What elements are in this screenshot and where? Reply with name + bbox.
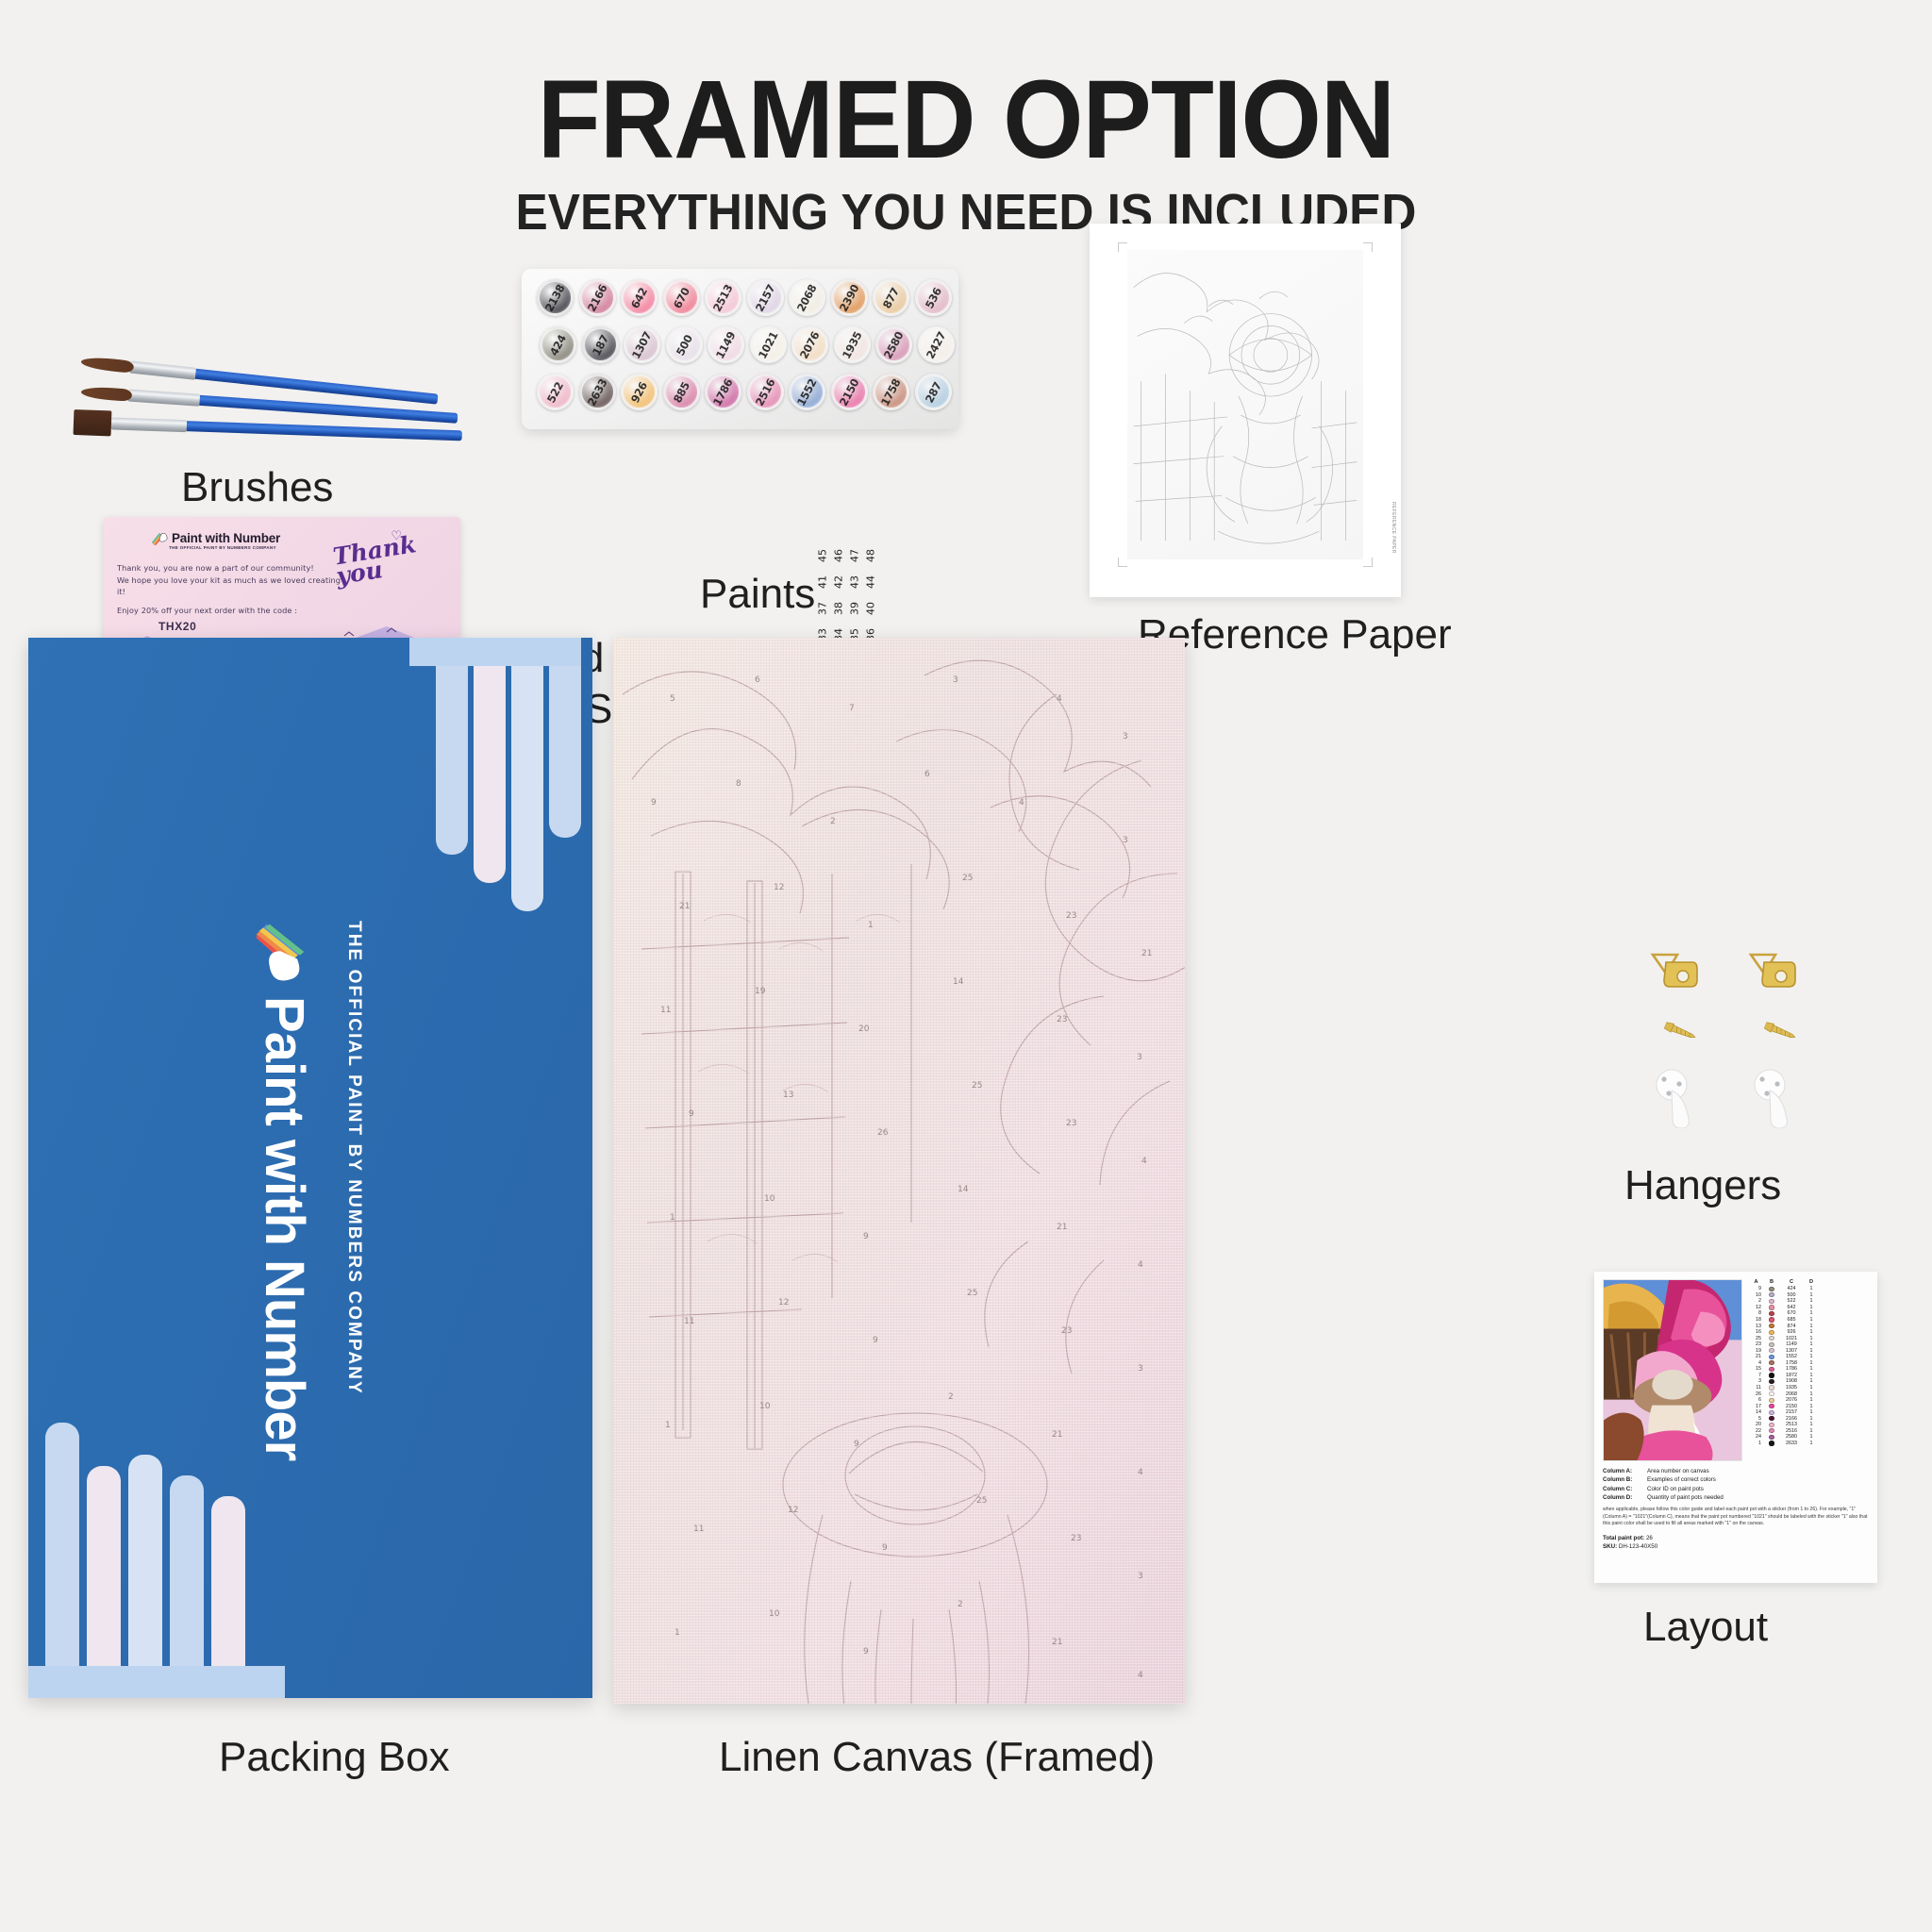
- paint-pot-code: 2150: [837, 376, 862, 408]
- canvas-area-number: 9: [854, 1440, 859, 1449]
- layout-color-swatch: [1765, 1336, 1778, 1341]
- layout-artwork: [1604, 1280, 1741, 1460]
- layout-legend-text: Quantity of paint pots needed: [1647, 1493, 1724, 1502]
- layout-color-id: 1872: [1779, 1373, 1804, 1378]
- layout-color-swatch: [1765, 1360, 1778, 1365]
- layout-color-id: 2580: [1779, 1434, 1804, 1440]
- layout-color-id: 2150: [1779, 1404, 1804, 1409]
- canvas-area-number: 12: [788, 1506, 798, 1515]
- layout-color-id: 1908: [1779, 1378, 1804, 1384]
- card-line: We hope you love your kit as much as we …: [117, 575, 353, 587]
- sticker-number: 39: [847, 598, 861, 618]
- caption-layout: Layout: [1643, 1604, 1768, 1651]
- layout-color-swatch: [1765, 1287, 1778, 1291]
- layout-color-id: 1307: [1779, 1348, 1804, 1354]
- layout-top: A B C D 94241105001252211264218670118685…: [1603, 1279, 1869, 1461]
- paint-pot-code: 522: [544, 379, 566, 405]
- layout-quantity: 1: [1805, 1317, 1818, 1323]
- layout-color-swatch: [1765, 1385, 1778, 1390]
- layout-quantity: 1: [1805, 1397, 1818, 1403]
- paint-pot: 1307: [624, 326, 660, 363]
- box-stripe: [170, 1475, 204, 1698]
- layout-area-number: 22: [1748, 1428, 1764, 1434]
- brush-ferrule: [127, 390, 200, 407]
- layout-quantity: 1: [1805, 1348, 1818, 1354]
- paint-pots-grid: 2138216664267025132157206823908775364241…: [529, 277, 951, 421]
- hangers-group: [1604, 943, 1849, 1151]
- paint-pot: 424: [540, 326, 576, 363]
- layout-area-number: 20: [1748, 1422, 1764, 1427]
- layout-area-number: 8: [1748, 1310, 1764, 1316]
- canvas-area-number: 9: [651, 798, 657, 808]
- layout-color-swatch: [1765, 1355, 1778, 1359]
- paint-pot: 2516: [747, 374, 784, 410]
- thank-you-script: Thank you: [332, 529, 458, 631]
- canvas-area-number: 25: [972, 1081, 982, 1091]
- layout-color-swatch: [1765, 1379, 1778, 1384]
- layout-area-number: 6: [1748, 1397, 1764, 1403]
- canvas-area-number: 25: [976, 1496, 987, 1506]
- paint-pot-code: 1021: [756, 329, 781, 360]
- packing-box: Paint with Number THE OFFICIAL PAINT BY …: [28, 638, 592, 1698]
- layout-legend-text: Color ID on paint pots: [1647, 1485, 1704, 1493]
- layout-color-swatch: [1765, 1404, 1778, 1408]
- layout-color-swatch: [1765, 1416, 1778, 1421]
- layout-color-id: 1786: [1779, 1366, 1804, 1372]
- canvas-area-number: 21: [1052, 1638, 1062, 1647]
- layout-color-swatch: [1765, 1367, 1778, 1372]
- reference-side-note: REFERENCE PAPER: [1391, 502, 1396, 554]
- canvas-area-number: 3: [1138, 1364, 1143, 1374]
- layout-legend-row: Column A: Area number on canvas: [1603, 1467, 1869, 1475]
- layout-area-number: 17: [1748, 1404, 1764, 1409]
- paint-pot: 2427: [918, 326, 955, 363]
- box-logo-text: Paint with Number: [253, 996, 316, 1460]
- layout-card: A B C D 94241105001252211264218670118685…: [1594, 1272, 1877, 1583]
- layout-quantity: 1: [1805, 1428, 1818, 1434]
- paint-pot: 1935: [834, 326, 871, 363]
- layout-quantity: 1: [1805, 1354, 1818, 1359]
- brush-ferrule: [111, 417, 187, 432]
- sticker-number: 41: [815, 572, 829, 591]
- brush-handle: [183, 421, 462, 441]
- d-ring-hanger-icon: [1649, 949, 1698, 992]
- layout-color-swatch: [1765, 1441, 1778, 1445]
- box-stripe: [28, 1666, 285, 1698]
- infographic-root: FRAMED OPTION EVERYTHING YOU NEED IS INC…: [0, 0, 1932, 1932]
- paint-pot: 670: [663, 279, 700, 316]
- layout-legend-text: Examples of correct colors: [1647, 1475, 1716, 1484]
- linen-canvas: 5673439826432112125232111192014233913262…: [613, 638, 1185, 1704]
- paint-tray: 2138216664267025132157206823908775364241…: [522, 269, 958, 429]
- card-line: Thank you, you are now a part of our com…: [117, 562, 353, 575]
- reference-paper: REFERENCE PAPER: [1090, 224, 1401, 597]
- layout-color-id: 2633: [1779, 1441, 1804, 1446]
- brush-tip-icon: [80, 356, 134, 374]
- sticker-number: 46: [831, 545, 845, 565]
- sticker-number: 40: [863, 598, 877, 618]
- canvas-area-number: 10: [764, 1194, 774, 1204]
- layout-area-number: 7: [1748, 1373, 1764, 1378]
- layout-color-id: 2166: [1779, 1416, 1804, 1422]
- layout-col-b: B: [1765, 1279, 1778, 1285]
- canvas-area-number: 25: [967, 1289, 977, 1298]
- canvas-area-number: 21: [1141, 949, 1152, 958]
- layout-color-id: 670: [1779, 1310, 1804, 1316]
- card-line: it!: [117, 586, 353, 598]
- paint-pot: 2513: [705, 279, 741, 316]
- box-stripe: [549, 638, 581, 838]
- layout-legend-label: Column A:: [1603, 1467, 1642, 1475]
- layout-area-number: 2: [1748, 1298, 1764, 1304]
- card-line: Enjoy 20% off your next order with the c…: [117, 605, 353, 617]
- caption-hangers: Hangers: [1624, 1162, 1781, 1209]
- paint-pot-code: 2076: [797, 329, 823, 360]
- layout-quantity: 1: [1805, 1409, 1818, 1415]
- layout-quantity: 1: [1805, 1391, 1818, 1397]
- canvas-area-number: 9: [689, 1109, 694, 1119]
- layout-area-number: 26: [1748, 1391, 1764, 1397]
- canvas-area-number: 9: [863, 1647, 869, 1657]
- paint-pot-code: 2157: [753, 282, 778, 313]
- layout-legend-label: Column D:: [1603, 1493, 1642, 1502]
- canvas-area-number: 21: [679, 902, 690, 911]
- paint-pot-code: 885: [670, 379, 691, 405]
- layout-area-number: 1: [1748, 1441, 1764, 1446]
- canvas-area-number: 13: [783, 1091, 793, 1100]
- layout-color-swatch: [1765, 1317, 1778, 1322]
- box-stripe: [87, 1466, 121, 1698]
- paint-pot-code: 500: [673, 332, 694, 358]
- canvas-area-number: 11: [693, 1524, 704, 1534]
- layout-area-number: 11: [1748, 1385, 1764, 1391]
- paint-pot-code: 1552: [794, 376, 820, 408]
- box-stripe: [128, 1455, 162, 1698]
- sticker-number: 37: [815, 598, 829, 618]
- rainbow-brush-icon: [151, 530, 168, 545]
- layout-quantity: 1: [1805, 1385, 1818, 1391]
- crop-mark: [1118, 242, 1127, 252]
- sticker-number: 42: [831, 572, 845, 591]
- layout-quantity: 1: [1805, 1360, 1818, 1366]
- crop-mark: [1363, 242, 1373, 252]
- d-ring-hanger-icon: [1747, 949, 1796, 992]
- layout-preview-image: [1603, 1279, 1742, 1461]
- canvas-area-number: 10: [759, 1402, 770, 1411]
- layout-color-id: 2157: [1779, 1409, 1804, 1415]
- canvas-area-number: 23: [1066, 1119, 1076, 1128]
- canvas-area-number: 23: [1057, 1015, 1067, 1024]
- paint-pot-code: 2516: [753, 376, 778, 408]
- paint-pot: 2138: [537, 279, 574, 316]
- layout-color-swatch: [1765, 1435, 1778, 1440]
- paint-pot-code: 2513: [710, 282, 736, 313]
- layout-color-swatch: [1765, 1311, 1778, 1316]
- paint-pot: 1149: [708, 326, 744, 363]
- canvas-area-number: 4: [1141, 1157, 1147, 1166]
- layout-area-number: 18: [1748, 1317, 1764, 1323]
- caption-packing-box: Packing Box: [219, 1734, 450, 1781]
- canvas-area-number: 25: [962, 874, 973, 883]
- canvas-area-numbers: 5673439826432112125232111192014233913262…: [613, 638, 1185, 1704]
- canvas-area-number: 12: [778, 1298, 789, 1307]
- layout-color-id: 2076: [1779, 1397, 1804, 1403]
- paint-pot-code: 2390: [837, 282, 862, 313]
- paint-pot: 2076: [791, 326, 828, 363]
- screw-icon: [1763, 1021, 1798, 1043]
- canvas-area-number: 4: [1057, 694, 1062, 704]
- canvas-area-number: 9: [873, 1336, 878, 1345]
- layout-area-number: 9: [1748, 1286, 1764, 1291]
- layout-sku-value: DH-123-40X50: [1619, 1543, 1657, 1550]
- layout-color-id: 2068: [1779, 1391, 1804, 1397]
- paint-pot-code: 2580: [881, 329, 907, 360]
- box-logo: Paint with Number: [253, 921, 316, 1460]
- paint-pot: 2633: [579, 374, 616, 410]
- caption-linen-canvas: Linen Canvas (Framed): [719, 1734, 1155, 1781]
- canvas-area-number: 3: [1123, 732, 1128, 741]
- canvas-area-number: 14: [958, 1185, 968, 1194]
- layout-quantity: 1: [1805, 1366, 1818, 1372]
- layout-color-swatch: [1765, 1330, 1778, 1335]
- layout-area-number: 3: [1748, 1378, 1764, 1384]
- paint-pot: 2390: [831, 279, 868, 316]
- paint-pot: 2068: [789, 279, 825, 316]
- layout-color-table: A B C D 94241105001252211264218670118685…: [1748, 1279, 1869, 1461]
- paint-pot: 522: [537, 374, 574, 410]
- layout-instructions: when applicable, please follow this colo…: [1603, 1507, 1869, 1528]
- paint-pot: 1786: [705, 374, 741, 410]
- layout-quantity: 1: [1805, 1292, 1818, 1298]
- layout-legend-label: Column C:: [1603, 1485, 1642, 1493]
- layout-color-id: 926: [1779, 1329, 1804, 1335]
- layout-col-d: D: [1805, 1279, 1818, 1285]
- paint-pot-code: 1149: [713, 329, 739, 360]
- paint-pot-code: 2138: [542, 282, 568, 313]
- layout-quantity: 1: [1805, 1373, 1818, 1378]
- layout-color-id: 1552: [1779, 1354, 1804, 1359]
- layout-sku-row: SKU: DH-123-40X50: [1603, 1542, 1869, 1551]
- layout-color-id: 874: [1779, 1324, 1804, 1329]
- sticker-number: 45: [815, 545, 829, 565]
- paint-pot: 1552: [789, 374, 825, 410]
- paint-pot-code: 926: [628, 379, 650, 405]
- caption-brushes: Brushes: [181, 464, 333, 511]
- box-stripe: [436, 638, 468, 855]
- rainbow-brush-icon: [257, 921, 313, 983]
- canvas-area-number: 26: [877, 1128, 888, 1138]
- layout-quantity: 1: [1805, 1329, 1818, 1335]
- reference-artwork: [1127, 250, 1363, 559]
- paint-pot: 2580: [875, 326, 912, 363]
- layout-color-id: 424: [1779, 1286, 1804, 1291]
- card-logo-sub: THE OFFICIAL PAINT BY NUMBERS COMPANY: [169, 545, 276, 550]
- paint-pot: 287: [915, 374, 952, 410]
- paint-pot: 877: [873, 279, 909, 316]
- card-promo-code: THX20: [158, 620, 353, 633]
- caption-paints: Paints: [700, 571, 815, 618]
- layout-color-id: 1021: [1779, 1336, 1804, 1341]
- canvas-area-number: 8: [736, 779, 741, 789]
- layout-quantity: 1: [1805, 1441, 1818, 1446]
- canvas-area-number: 4: [1019, 798, 1024, 808]
- brushes-group: [74, 347, 479, 451]
- screw-icon: [1663, 1021, 1698, 1043]
- layout-area-number: 5: [1748, 1416, 1764, 1422]
- layout-area-number: 4: [1748, 1360, 1764, 1366]
- layout-quantity: 1: [1805, 1422, 1818, 1427]
- box-stripe: [45, 1423, 79, 1698]
- paint-pot-code: 1935: [840, 329, 865, 360]
- paint-pot-code: 536: [922, 285, 943, 310]
- layout-legend: Column A: Area number on canvas Column B…: [1603, 1467, 1869, 1502]
- brush-tip-icon: [74, 409, 112, 436]
- layout-color-id: 2516: [1779, 1428, 1804, 1434]
- paint-pot-code: 2068: [794, 282, 820, 313]
- paint-pot-code: 187: [589, 332, 610, 358]
- crop-mark: [1363, 558, 1373, 567]
- paint-pot-code: 424: [547, 332, 569, 358]
- canvas-area-number: 6: [924, 770, 930, 779]
- sticker-number: 43: [847, 572, 861, 591]
- layout-area-number: 21: [1748, 1354, 1764, 1359]
- paint-pot: 2157: [747, 279, 784, 316]
- layout-color-id: 1935: [1779, 1385, 1804, 1391]
- canvas-area-number: 20: [858, 1024, 869, 1034]
- layout-color-id: 642: [1779, 1305, 1804, 1310]
- canvas-area-number: 10: [769, 1609, 779, 1619]
- layout-color-swatch: [1765, 1305, 1778, 1309]
- layout-sku-label: SKU:: [1603, 1543, 1617, 1550]
- wall-hook-icon: [1653, 1068, 1694, 1128]
- canvas-area-number: 4: [1138, 1468, 1143, 1477]
- paint-pot: 1758: [873, 374, 909, 410]
- layout-color-id: 1758: [1779, 1360, 1804, 1366]
- canvas-area-number: 12: [774, 883, 784, 892]
- wall-hook-icon: [1751, 1068, 1792, 1128]
- layout-area-number: 24: [1748, 1434, 1764, 1440]
- canvas-area-number: 4: [1138, 1260, 1143, 1270]
- paint-pot: 2166: [579, 279, 616, 316]
- layout-quantity: 1: [1805, 1298, 1818, 1304]
- layout-quantity: 1: [1805, 1378, 1818, 1384]
- sticker-number: 47: [847, 545, 861, 565]
- layout-color-swatch: [1765, 1292, 1778, 1297]
- box-stripe: [511, 638, 543, 911]
- canvas-area-number: 11: [684, 1317, 694, 1326]
- layout-quantity: 1: [1805, 1404, 1818, 1409]
- paint-pot: 2150: [831, 374, 868, 410]
- layout-table-body: 9424110500125221126421867011868511387411…: [1748, 1286, 1869, 1446]
- layout-legend-label: Column B:: [1603, 1475, 1642, 1484]
- layout-quantity: 1: [1805, 1310, 1818, 1316]
- brush-ferrule: [129, 360, 196, 379]
- page-subtitle: EVERYTHING YOU NEED IS INCLUDED: [48, 187, 1884, 238]
- layout-color-id: 1149: [1779, 1341, 1804, 1347]
- canvas-area-number: 5: [670, 694, 675, 704]
- layout-col-a: A: [1748, 1279, 1764, 1285]
- canvas-area-number: 1: [675, 1628, 680, 1638]
- layout-color-swatch: [1765, 1410, 1778, 1415]
- brush-tip-icon: [81, 386, 133, 402]
- paint-pot-code: 1758: [878, 376, 904, 408]
- paint-pot: 926: [621, 374, 658, 410]
- layout-quantity: 1: [1805, 1434, 1818, 1440]
- layout-color-id: 522: [1779, 1298, 1804, 1304]
- layout-quantity: 1: [1805, 1305, 1818, 1310]
- layout-legend-row: Column C: Color ID on paint pots: [1603, 1485, 1869, 1493]
- crop-mark: [1118, 558, 1127, 567]
- layout-total-pots-label: Total paint pot:: [1603, 1535, 1644, 1541]
- card-logo-text: Paint with Number: [172, 531, 280, 545]
- layout-color-swatch: [1765, 1398, 1778, 1403]
- layout-quantity: 1: [1805, 1336, 1818, 1341]
- layout-total-pots-value: 26: [1646, 1535, 1653, 1541]
- layout-color-swatch: [1765, 1342, 1778, 1347]
- canvas-area-number: 9: [882, 1543, 888, 1553]
- canvas-area-number: 1: [868, 921, 874, 930]
- layout-quantity: 1: [1805, 1341, 1818, 1347]
- page-title: FRAMED OPTION: [68, 64, 1865, 175]
- canvas-area-number: 14: [953, 977, 963, 987]
- layout-color-swatch: [1765, 1391, 1778, 1396]
- layout-area-number: 25: [1748, 1336, 1764, 1341]
- layout-legend-row: Column B: Examples of correct colors: [1603, 1475, 1869, 1484]
- paint-pot: 642: [621, 279, 658, 316]
- canvas-area-number: 2: [830, 817, 836, 826]
- paint-pot-code: 1307: [629, 329, 655, 360]
- canvas-area-number: 21: [1057, 1223, 1067, 1232]
- layout-color-swatch: [1765, 1423, 1778, 1427]
- layout-area-number: 10: [1748, 1292, 1764, 1298]
- layout-area-number: 12: [1748, 1305, 1764, 1310]
- paint-pot-code: 1786: [710, 376, 736, 408]
- canvas-area-number: 21: [1052, 1430, 1062, 1440]
- layout-area-number: 14: [1748, 1409, 1764, 1415]
- layout-area-number: 23: [1748, 1341, 1764, 1347]
- layout-col-c: C: [1779, 1279, 1804, 1285]
- layout-color-swatch: [1765, 1373, 1778, 1377]
- canvas-area-number: 23: [1061, 1326, 1072, 1336]
- canvas-area-number: 23: [1066, 911, 1076, 921]
- canvas-area-number: 3: [953, 675, 958, 685]
- canvas-area-number: 3: [1138, 1572, 1143, 1581]
- paint-pot-code: 2633: [585, 376, 610, 408]
- canvas-area-number: 11: [660, 1006, 671, 1015]
- paint-pot: 500: [666, 326, 703, 363]
- box-tagline: THE OFFICIAL PAINT BY NUMBERS COMPANY: [343, 921, 364, 1395]
- box-stripe: [474, 638, 506, 883]
- paint-pot-code: 2427: [924, 329, 949, 360]
- sticker-number: 38: [831, 598, 845, 618]
- layout-total-pots-row: Total paint pot: 26: [1603, 1534, 1869, 1542]
- layout-color-swatch: [1765, 1428, 1778, 1433]
- canvas-area-number: 3: [1123, 836, 1128, 845]
- canvas-area-number: 2: [958, 1600, 963, 1609]
- layout-quantity: 1: [1805, 1324, 1818, 1329]
- canvas-area-number: 3: [1137, 1053, 1142, 1062]
- paint-pot-code: 877: [880, 285, 902, 310]
- canvas-area-number: 23: [1071, 1534, 1081, 1543]
- layout-table-row: 126331: [1748, 1441, 1869, 1447]
- canvas-area-number: 6: [755, 675, 760, 685]
- layout-legend-row: Column D: Quantity of paint pots needed: [1603, 1493, 1869, 1502]
- layout-table-header: A B C D: [1748, 1279, 1869, 1286]
- layout-area-number: 16: [1748, 1329, 1764, 1335]
- layout-footer: Total paint pot: 26 SKU: DH-123-40X50: [1603, 1534, 1869, 1552]
- layout-color-id: 685: [1779, 1317, 1804, 1323]
- canvas-area-number: 1: [665, 1421, 671, 1430]
